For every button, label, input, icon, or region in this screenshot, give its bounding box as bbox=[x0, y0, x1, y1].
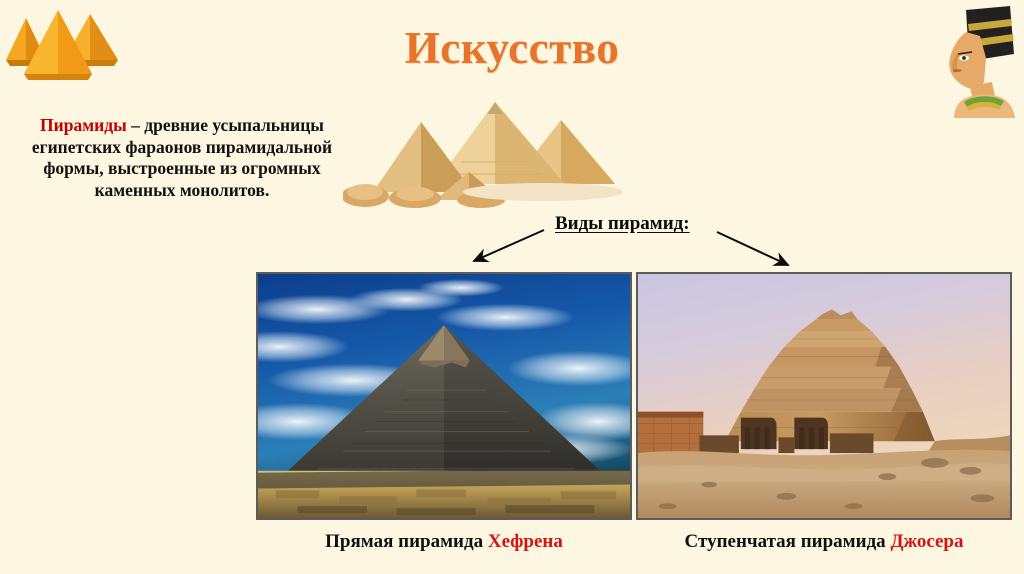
caption-djoser-prefix: Ступенчатая пирамида bbox=[685, 531, 891, 552]
caption-djoser: Ступенчатая пирамида Джосера bbox=[636, 531, 1012, 553]
definition-term: Пирамиды bbox=[40, 115, 127, 135]
definition-dash: – bbox=[127, 115, 145, 135]
slide-root: Искусство Пирамиды – древние усыпальницы… bbox=[0, 0, 1024, 574]
page-title: Искусство bbox=[0, 22, 1024, 74]
photo-khafre[interactable] bbox=[256, 272, 632, 520]
caption-khafre: Прямая пирамида Хефрена bbox=[256, 531, 632, 553]
caption-khafre-prefix: Прямая пирамида bbox=[325, 531, 488, 552]
photo-djoser[interactable] bbox=[636, 272, 1012, 520]
definition-text: Пирамиды – древние усыпальницы египетски… bbox=[14, 115, 350, 201]
caption-djoser-name: Джосера bbox=[890, 531, 963, 552]
caption-khafre-name: Хефрена bbox=[488, 531, 563, 552]
arrow-left bbox=[474, 230, 544, 261]
kinds-of-pyramids-label: Виды пирамид: bbox=[551, 212, 694, 236]
giza-pyramids-illustration bbox=[343, 100, 623, 208]
arrow-right bbox=[717, 232, 788, 265]
